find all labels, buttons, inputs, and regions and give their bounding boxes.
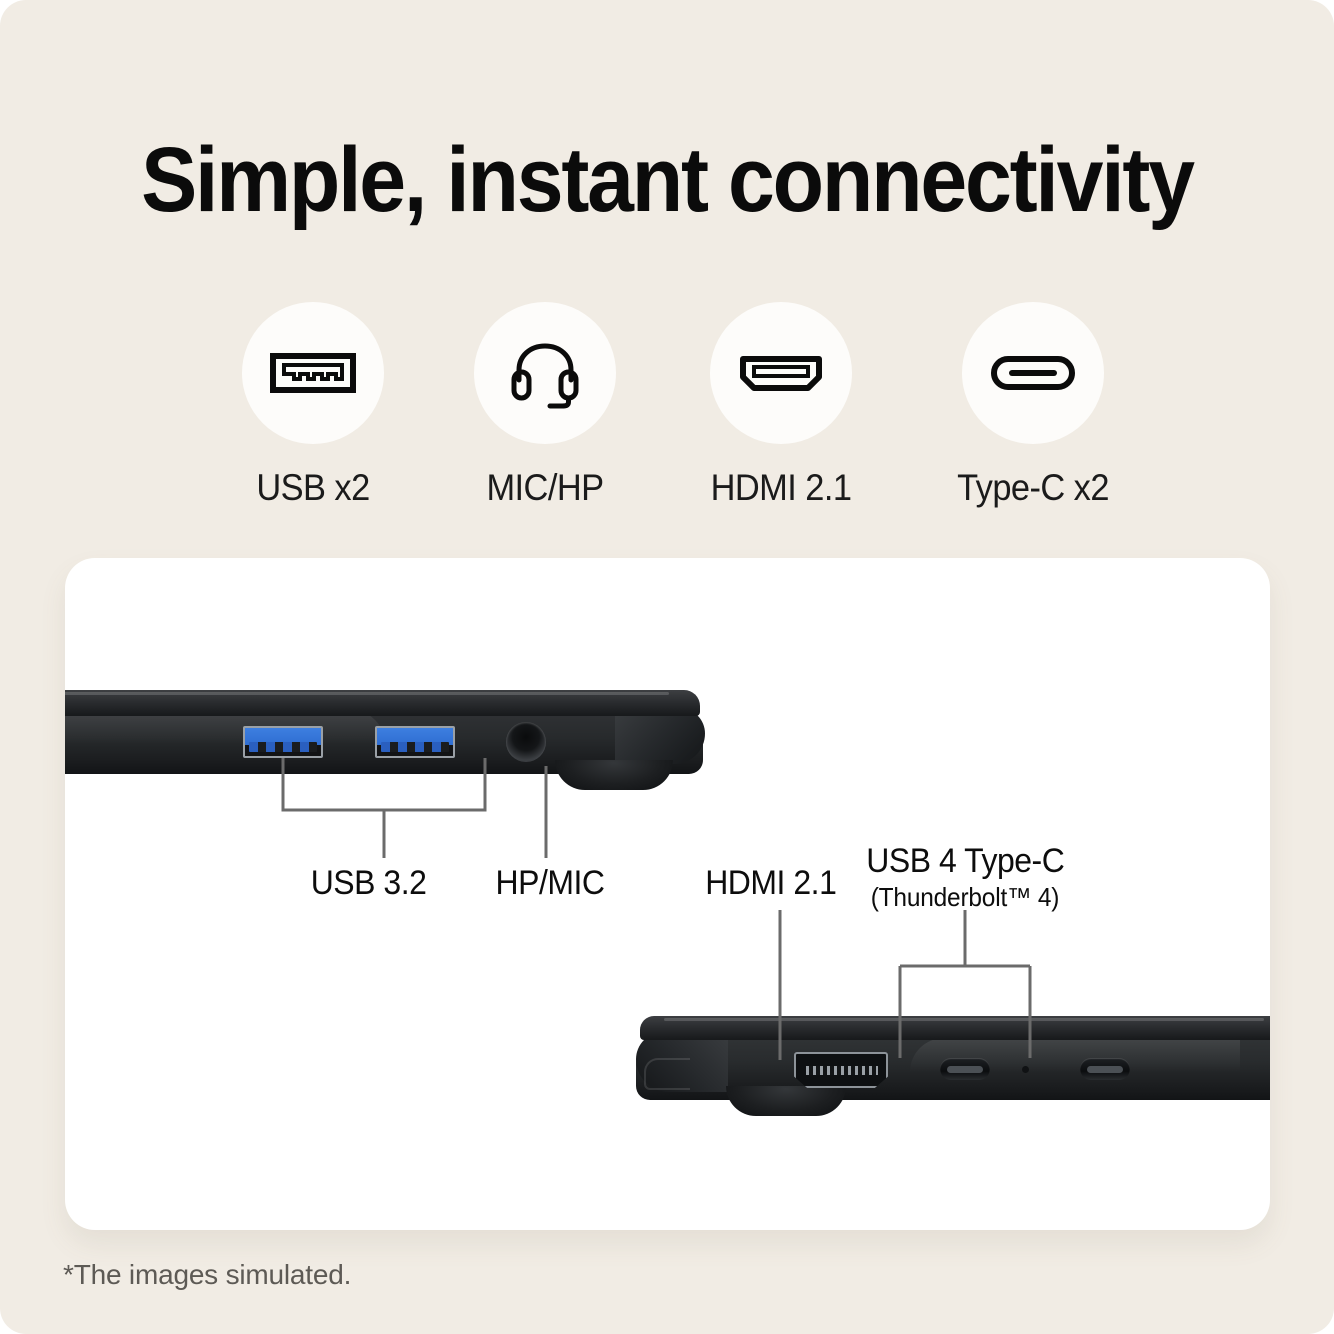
usb-a-icon	[270, 349, 356, 397]
callout-label-hdmi: HDMI 2.1	[705, 863, 836, 903]
feature-type-c-circle	[962, 302, 1104, 444]
feature-mic-hp: MIC/HP	[450, 302, 640, 510]
led-indicator	[1022, 1066, 1029, 1073]
usb-c-port-2	[1080, 1058, 1130, 1080]
feature-icon-row: USB x2 MIC/HP HDMI 2.1	[218, 302, 1158, 517]
feature-usb: USB x2	[218, 302, 408, 510]
promo-card: Simple, instant connectivity USB x2	[0, 0, 1334, 1334]
footnote-disclaimer: *The images simulated.	[63, 1258, 351, 1292]
hdmi-port	[794, 1052, 888, 1088]
feature-usb-circle	[242, 302, 384, 444]
callout-label-typec-sub: (Thunderbolt™ 4)	[866, 881, 1063, 913]
callout-label-usb32: USB 3.2	[311, 863, 427, 903]
feature-mic-hp-circle	[474, 302, 616, 444]
feature-hdmi-label: HDMI 2.1	[693, 466, 870, 510]
laptop-right-side-photo	[590, 1016, 1270, 1132]
laptop-top-foot	[555, 760, 673, 790]
usb-a-port-1	[243, 726, 323, 758]
callout-label-typec-main: USB 4 Type-C	[866, 842, 1064, 880]
laptop-left-side-photo	[65, 690, 705, 800]
usb-c-icon	[990, 353, 1076, 393]
laptop-bottom-foot	[726, 1086, 846, 1116]
usb-c-port-1	[940, 1058, 990, 1080]
usb-a-port-2-pins	[381, 742, 449, 752]
laptop-bottom-nose-slit	[644, 1058, 690, 1090]
feature-type-c-label: Type-C x2	[945, 466, 1122, 510]
feature-usb-label: USB x2	[225, 466, 402, 510]
feature-type-c: Type-C x2	[938, 302, 1128, 510]
usb-a-port-2	[375, 726, 455, 758]
hdmi-port-teeth	[806, 1066, 878, 1075]
feature-hdmi: HDMI 2.1	[686, 302, 876, 510]
page-title: Simple, instant connectivity	[57, 128, 1278, 232]
hdmi-icon	[738, 349, 824, 397]
feature-hdmi-circle	[710, 302, 852, 444]
laptop-top-lid	[65, 690, 700, 716]
callout-label-typec: USB 4 Type-C (Thunderbolt™ 4)	[866, 841, 1063, 913]
laptop-top-nose	[615, 708, 705, 764]
usb-a-port-1-pins	[249, 742, 317, 752]
laptop-top-lid-highlight	[65, 692, 669, 695]
callout-label-hpmic: HP/MIC	[495, 863, 604, 903]
headset-icon	[508, 336, 582, 410]
product-photo-panel: USB 3.2 HP/MIC HDMI 2.1 USB 4 Type-C (Th…	[65, 558, 1270, 1230]
feature-mic-hp-label: MIC/HP	[457, 466, 634, 510]
headphone-jack-port	[506, 722, 546, 762]
laptop-bottom-lid-highlight	[664, 1018, 1264, 1021]
